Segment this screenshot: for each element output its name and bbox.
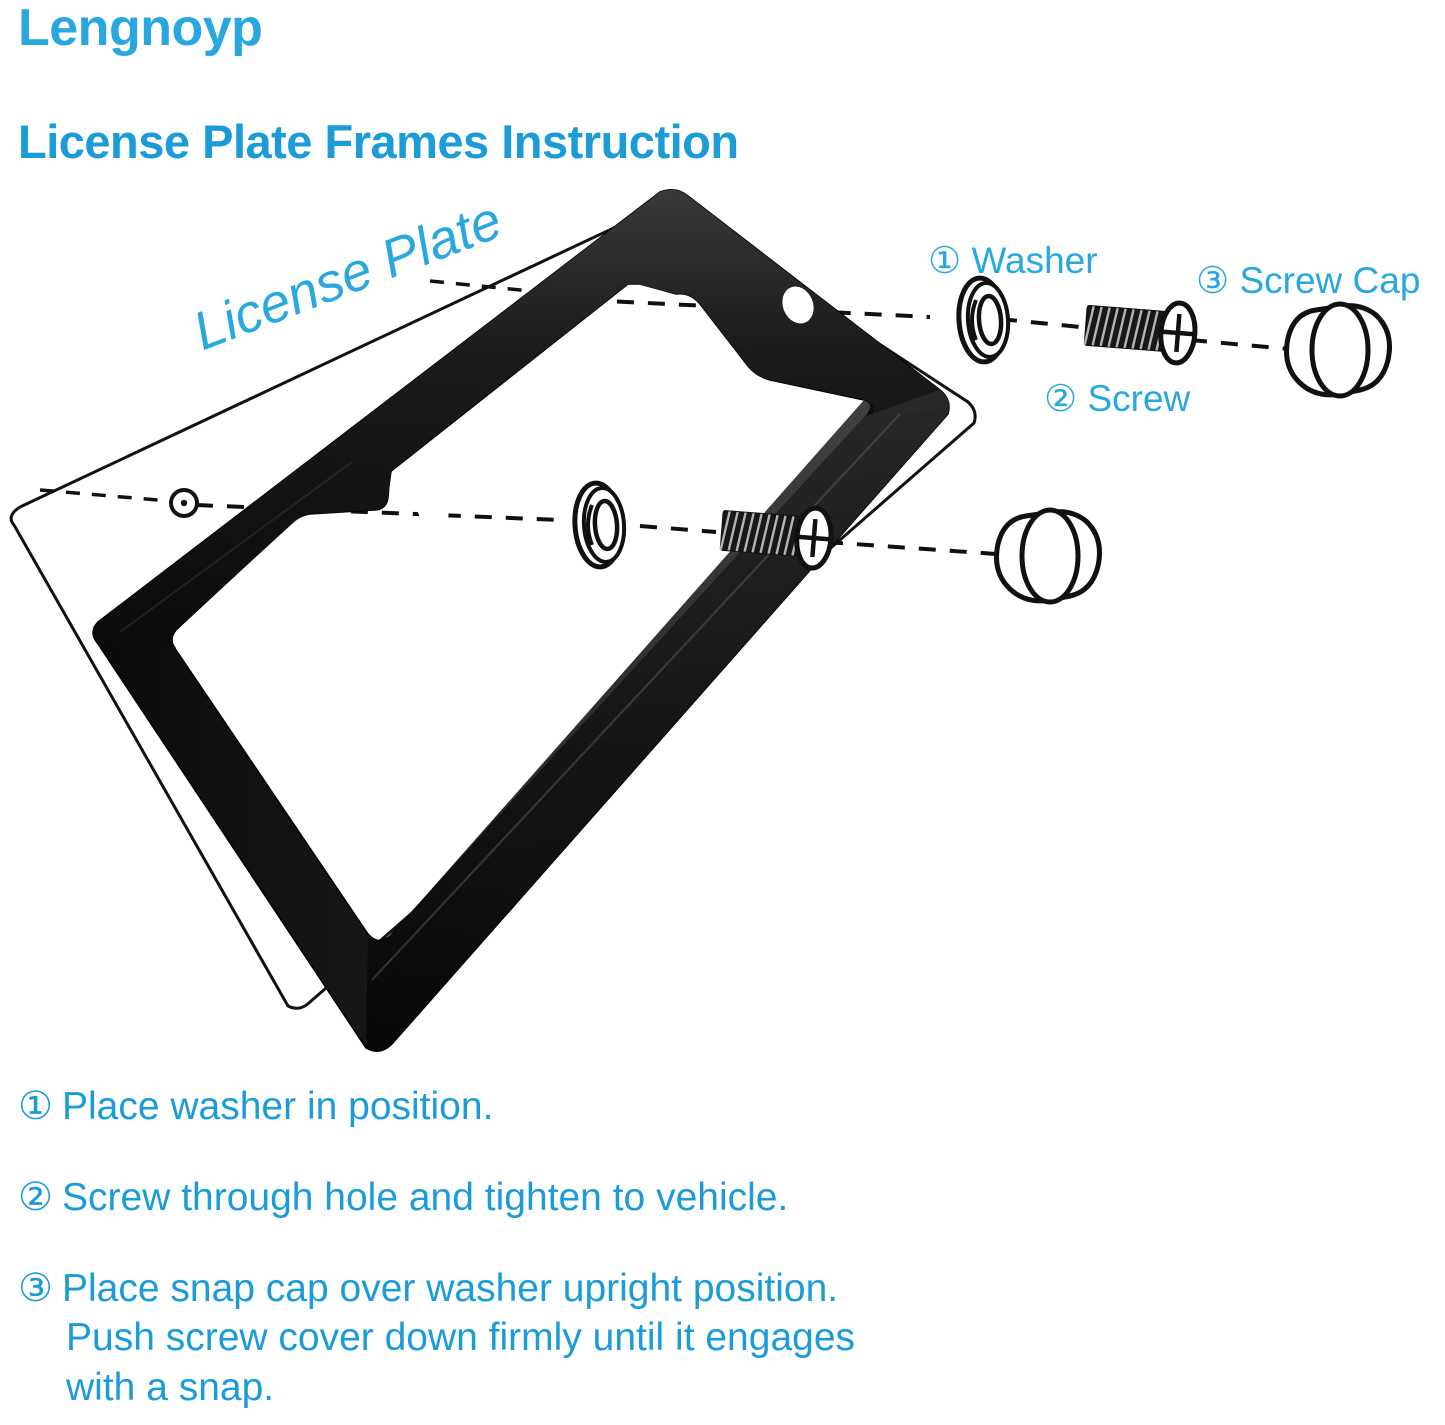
instruction-step-3: ③ Place snap cap over washer upright pos… (18, 1264, 1418, 1411)
step-2-marker: ② (18, 1173, 62, 1222)
page-title: License Plate Frames Instruction (18, 118, 739, 165)
callout-screw-cap-marker: ③ (1196, 260, 1229, 301)
step-3-line-1: Place snap cap over washer upright posit… (62, 1267, 838, 1310)
instruction-sheet: Lengnoyp License Plate Frames Instructio… (0, 0, 1445, 1425)
step-2-line-1: Screw through hole and tighten to vehicl… (62, 1176, 788, 1219)
step-3-line-2: Push screw cover down firmly until it en… (62, 1313, 1418, 1362)
callout-washer: ① Washer (928, 242, 1098, 279)
step-3-line-3: with a snap. (62, 1363, 1418, 1412)
brand-title: Lengnoyp (18, 2, 262, 54)
callout-washer-marker: ① (928, 240, 961, 281)
step-3-marker: ③ (18, 1264, 62, 1313)
screw-cap-upper (1287, 304, 1390, 396)
screw-upper (1084, 296, 1197, 364)
instruction-step-1: ① Place washer in position. (18, 1082, 1418, 1131)
callout-screw-cap-label: Screw Cap (1239, 260, 1420, 301)
callout-screw: ② Screw (1044, 380, 1190, 417)
callout-screw-marker: ② (1044, 378, 1077, 419)
step-3-text: Place snap cap over washer upright posit… (62, 1264, 1418, 1411)
callout-screw-cap: ③ Screw Cap (1196, 262, 1420, 299)
step-1-marker: ① (18, 1082, 62, 1131)
step-1-line-1: Place washer in position. (62, 1085, 493, 1128)
callout-screw-label: Screw (1087, 378, 1190, 419)
instruction-step-2: ② Screw through hole and tighten to vehi… (18, 1173, 1418, 1222)
step-2-text: Screw through hole and tighten to vehicl… (62, 1173, 1418, 1222)
step-1-text: Place washer in position. (62, 1082, 1418, 1131)
screw-cap-lower (997, 510, 1100, 602)
instruction-list: ① Place washer in position. ② Screw thro… (18, 1082, 1418, 1412)
washer-upper (956, 276, 1010, 363)
callout-washer-label: Washer (971, 240, 1097, 281)
